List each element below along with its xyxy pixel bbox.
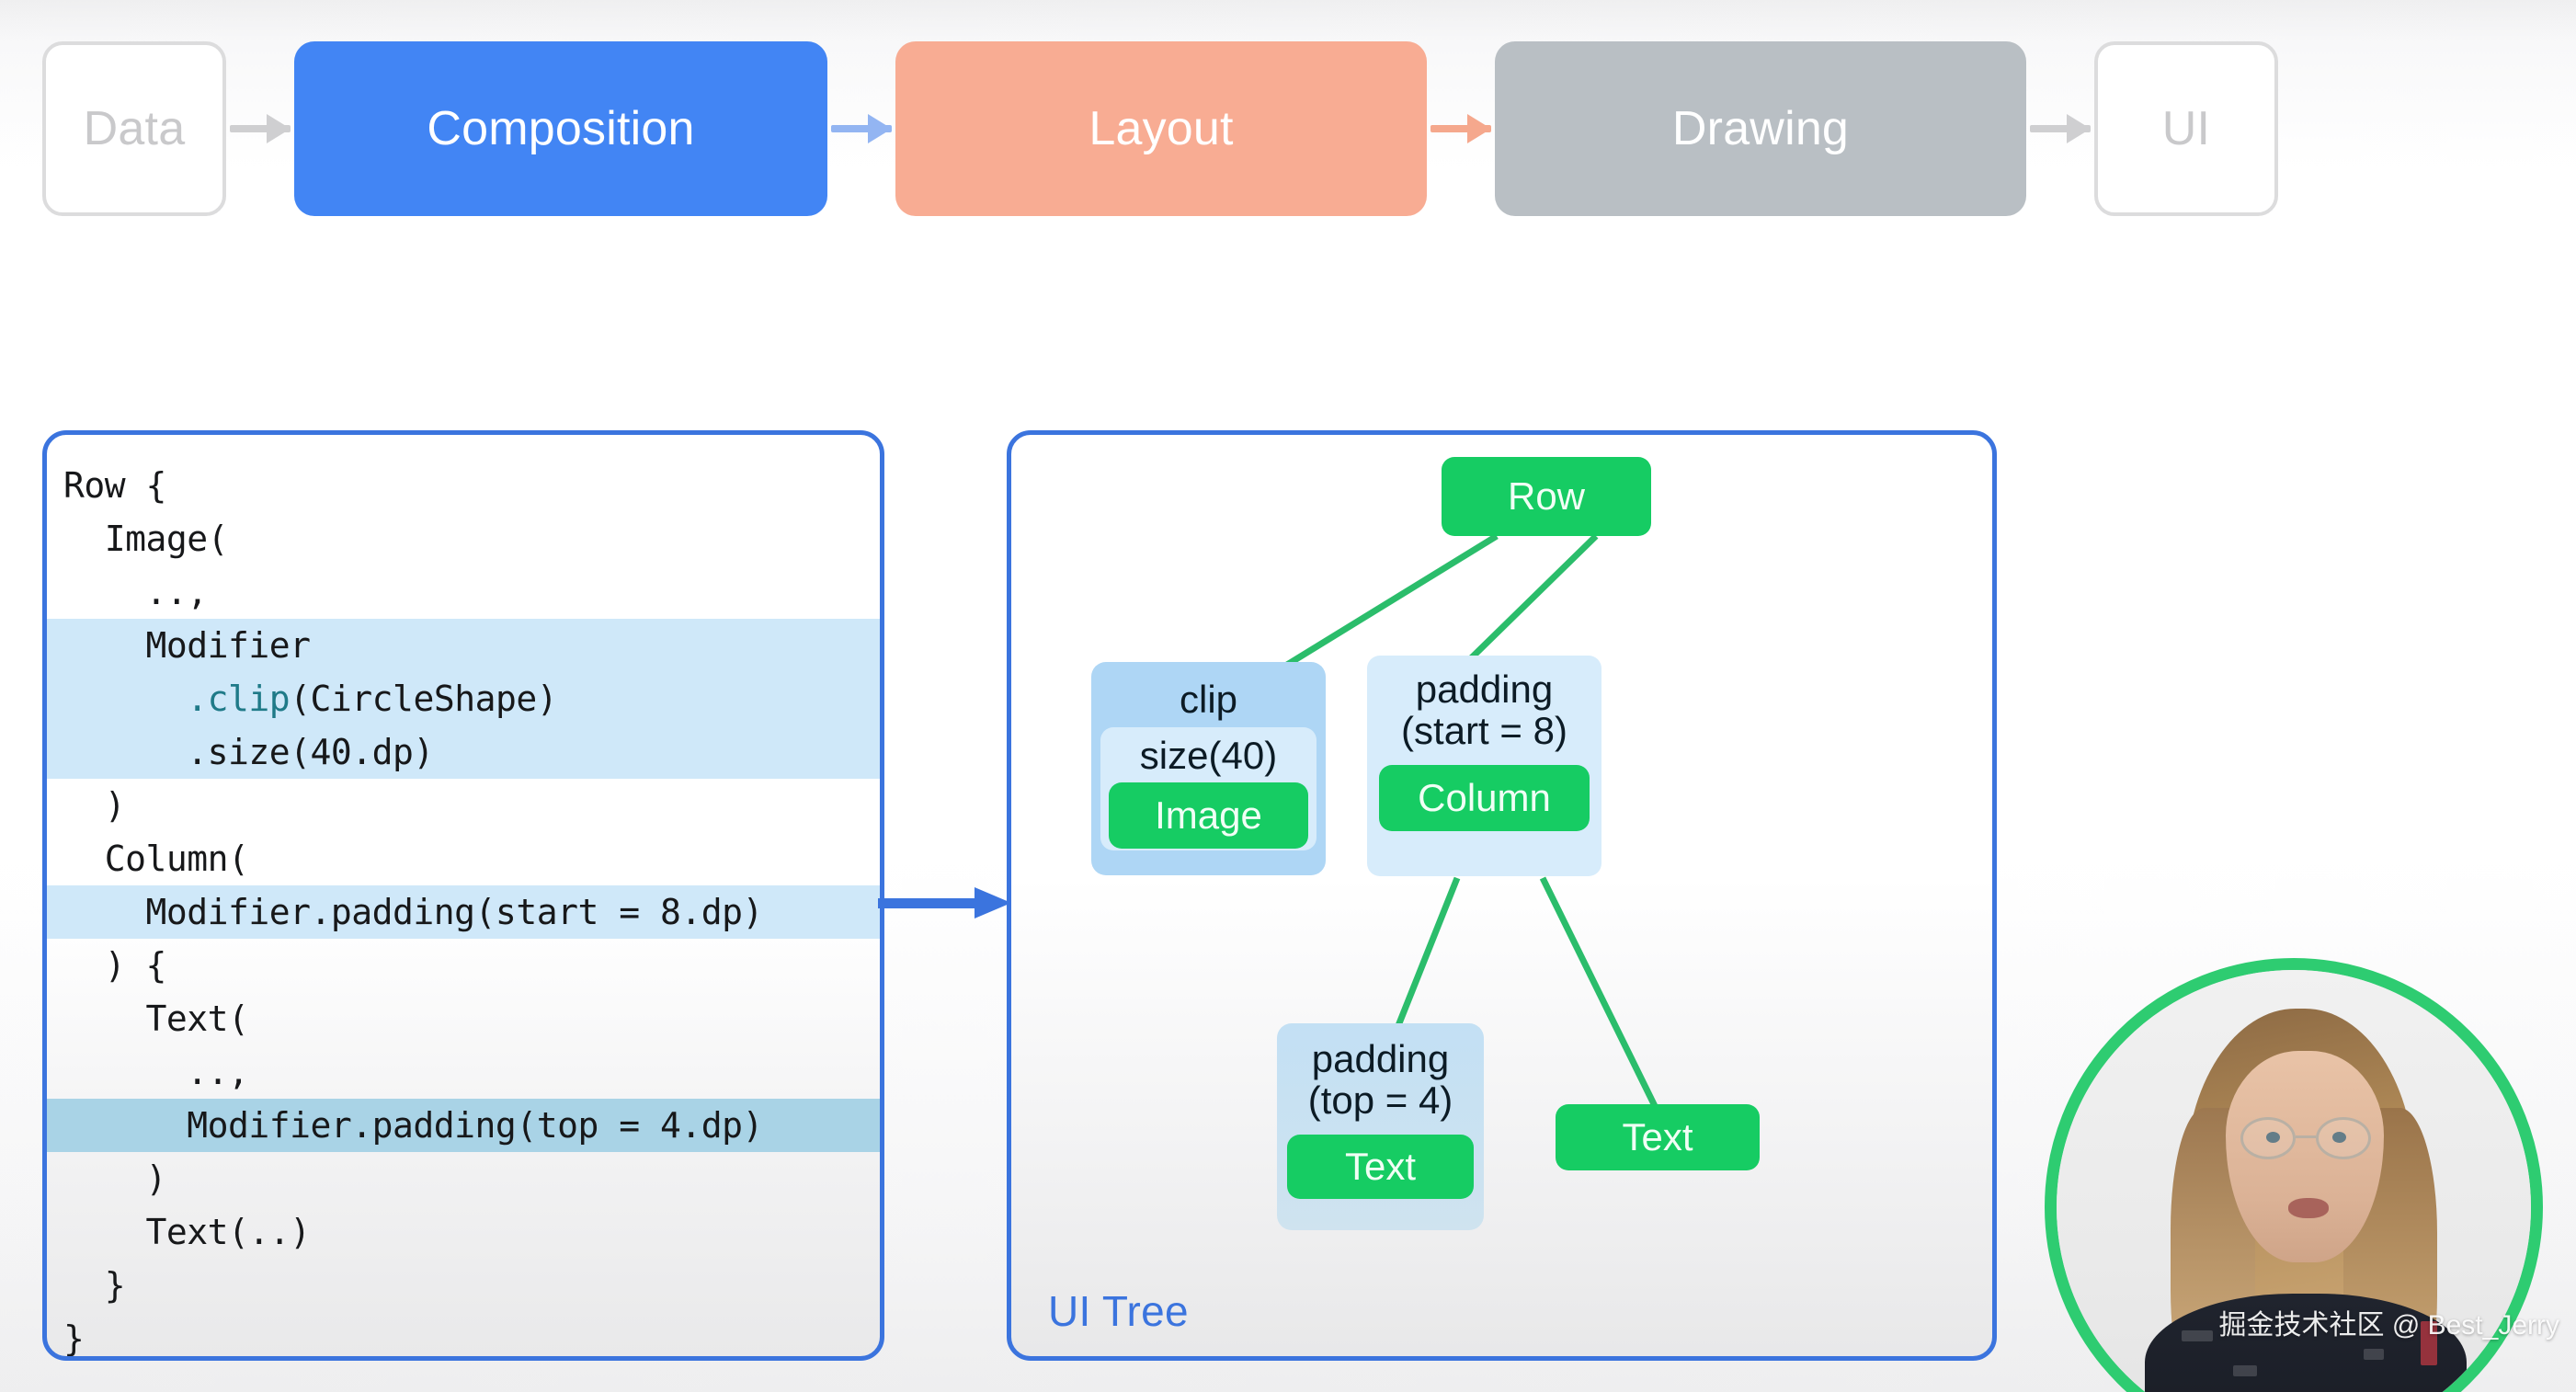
pipeline-arrow-data-to-composition (230, 120, 291, 137)
tree-node-column[interactable]: Column (1379, 765, 1590, 831)
code-line: ) { (47, 939, 880, 992)
code-line: Modifier (47, 619, 880, 672)
ui-tree-edges (1011, 435, 1992, 1356)
code-to-tree-arrow-shaft (878, 898, 977, 908)
pipeline-stage-data-label: Data (84, 101, 186, 156)
code-line: .., (47, 565, 880, 619)
tree-node-row[interactable]: Row (1442, 457, 1651, 536)
code-lines: Row { Image( .., Modifier .clip(CircleSh… (47, 459, 880, 1361)
tree-node-text-right-label: Text (1622, 1115, 1693, 1159)
tree-node-image-label: Image (1155, 793, 1262, 838)
code-line: ) (47, 779, 880, 832)
tree-node-column-label: Column (1418, 776, 1551, 820)
tree-node-padding-start-label: padding (start = 8) (1401, 668, 1567, 752)
pipeline-arrow-layout-to-drawing (1430, 120, 1491, 137)
code-line: ) (47, 1152, 880, 1205)
rendering-pipeline: Data Composition Layout Drawing UI (0, 28, 2576, 230)
code-line: Column( (47, 832, 880, 885)
pipeline-stage-drawing-label: Drawing (1672, 101, 1849, 156)
code-line: } (47, 1259, 880, 1312)
code-to-tree-arrow-head (975, 887, 1011, 918)
ui-tree-title: UI Tree (1048, 1286, 1189, 1336)
pipeline-arrow-composition-to-layout (831, 120, 892, 137)
presenter-mouth (2288, 1198, 2329, 1218)
tree-node-text-left[interactable]: Text (1287, 1135, 1474, 1199)
pipeline-stage-composition[interactable]: Composition (294, 41, 827, 216)
code-line: Text(..) (47, 1205, 880, 1259)
tree-node-text-right[interactable]: Text (1556, 1104, 1760, 1170)
pipeline-stage-composition-label: Composition (427, 101, 694, 156)
code-line: Image( (47, 512, 880, 565)
code-line: Row { (47, 459, 880, 512)
tree-node-padding-start[interactable]: padding (start = 8) Column (1367, 656, 1601, 876)
tree-node-padding-top[interactable]: padding (top = 4) Text (1277, 1023, 1484, 1230)
pipeline-stage-layout-label: Layout (1089, 101, 1233, 156)
tree-node-text-left-label: Text (1345, 1145, 1416, 1189)
pipeline-arrow-drawing-to-ui (2030, 120, 2091, 137)
code-line: Modifier.padding(start = 8.dp) (47, 885, 880, 939)
code-line: .., (47, 1045, 880, 1099)
code-line: .clip(CircleShape) (47, 672, 880, 725)
code-line: Modifier.padding(top = 4.dp) (47, 1099, 880, 1152)
tree-node-size[interactable]: size(40) Image (1100, 727, 1316, 850)
ui-tree-panel: Row clip size(40) Image padding (start =… (1007, 430, 1997, 1361)
pipeline-stage-ui-label: UI (2162, 101, 2210, 156)
code-line: Text( (47, 992, 880, 1045)
pipeline-stage-ui[interactable]: UI (2094, 41, 2278, 216)
tree-node-padding-top-label: padding (top = 4) (1308, 1038, 1453, 1122)
pipeline-stage-data[interactable]: Data (42, 41, 226, 216)
pipeline-stage-layout[interactable]: Layout (895, 41, 1427, 216)
watermark-text: 掘金技术社区 @ Best_Jerry (2218, 1302, 2559, 1342)
tree-node-clip-label: clip (1180, 679, 1237, 720)
tree-node-row-label: Row (1508, 474, 1585, 519)
code-line: } (47, 1312, 880, 1361)
glasses-icon (2237, 1117, 2375, 1159)
pipeline-stage-drawing[interactable]: Drawing (1495, 41, 2026, 216)
code-to-tree-arrow (878, 887, 1011, 918)
tree-node-image[interactable]: Image (1109, 782, 1308, 849)
code-line: .size(40.dp) (47, 725, 880, 779)
tree-node-clip[interactable]: clip size(40) Image (1091, 662, 1326, 875)
tree-node-size-label: size(40) (1140, 735, 1277, 776)
code-snippet-panel: Row { Image( .., Modifier .clip(CircleSh… (42, 430, 884, 1361)
